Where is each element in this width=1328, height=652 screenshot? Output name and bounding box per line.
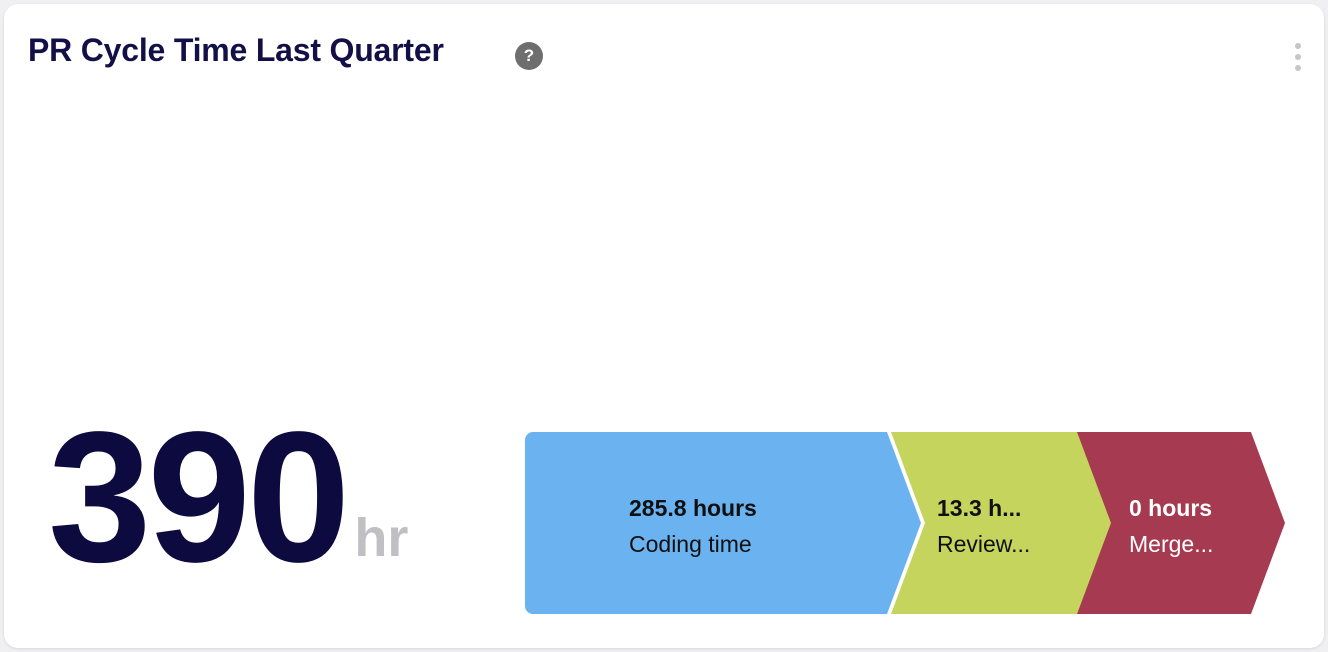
help-circle-icon[interactable]: ? xyxy=(515,42,543,70)
kebab-dot-3 xyxy=(1295,65,1301,71)
funnel-stage-label: Review... xyxy=(937,530,1113,559)
funnel-stage-label: Coding time xyxy=(629,530,921,559)
kebab-menu-icon[interactable] xyxy=(1287,40,1309,74)
metric-value: 390 xyxy=(48,422,346,575)
page-title: PR Cycle Time Last Quarter xyxy=(28,32,444,69)
pr-cycle-time-widget-card: PR Cycle Time Last Quarter ? 390 hr 285.… xyxy=(4,4,1324,648)
funnel-stage-label: Merge... xyxy=(1129,530,1285,559)
cycle-time-funnel-chart: 285.8 hours Coding time 13.3 h... Review… xyxy=(525,432,1285,614)
funnel-stage-coding-time[interactable]: 285.8 hours Coding time xyxy=(525,432,921,614)
funnel-stage-value: 285.8 hours xyxy=(629,487,921,531)
metric-unit: hr xyxy=(354,511,408,565)
funnel-stage-value: 0 hours xyxy=(1129,487,1285,531)
funnel-stage-review-time[interactable]: 13.3 h... Review... xyxy=(891,432,1113,614)
primary-metric: 390 hr xyxy=(48,422,408,575)
kebab-dot-2 xyxy=(1295,54,1301,60)
funnel-stage-value: 13.3 h... xyxy=(937,487,1113,531)
card-header: PR Cycle Time Last Quarter ? xyxy=(4,4,1324,100)
kebab-dot-1 xyxy=(1295,43,1301,49)
